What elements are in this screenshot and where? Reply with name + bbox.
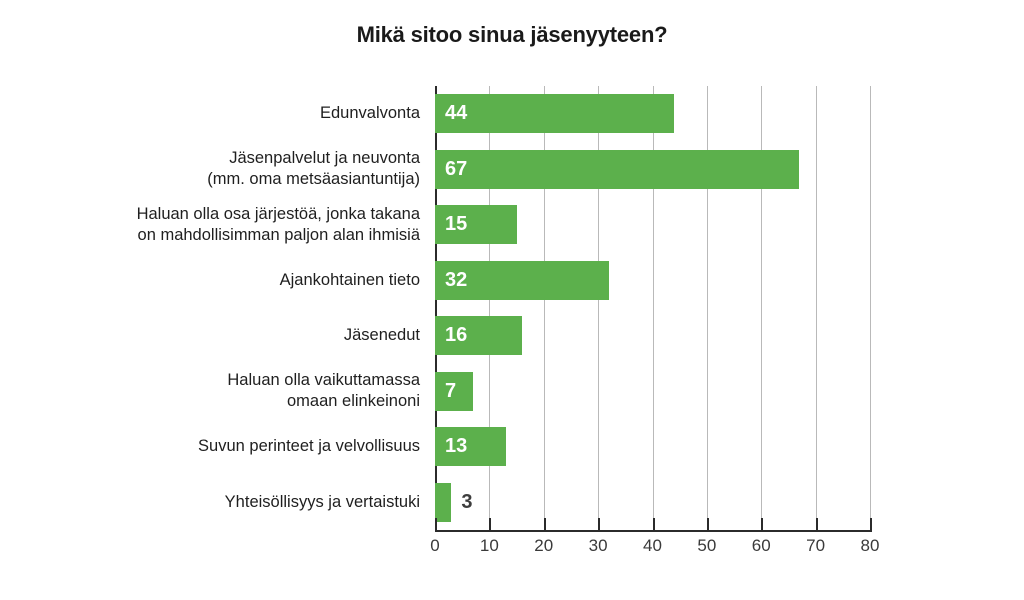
x-tick-label: 70: [796, 536, 836, 556]
category-label-line: omaan elinkeinoni: [80, 391, 420, 412]
category-label-line: on mahdollisimman paljon alan ihmisiä: [80, 225, 420, 246]
x-tick-30: [598, 518, 600, 530]
bar[interactable]: [435, 150, 799, 189]
bar-value-label: 13: [445, 427, 467, 466]
bar-value-label: 16: [445, 316, 467, 355]
x-tick-80: [870, 518, 872, 530]
page-title: Mikä sitoo sinua jäsenyyteen?: [0, 22, 1024, 48]
category-label: Ajankohtainen tieto: [80, 261, 420, 300]
gridline-80: [870, 86, 871, 530]
x-tick-label: 50: [687, 536, 727, 556]
bar-value-label: 67: [445, 150, 467, 189]
bar[interactable]: [435, 94, 674, 133]
bar-value-label: 44: [445, 94, 467, 133]
x-tick-0: [435, 518, 437, 530]
category-label-line: (mm. oma metsäasiantuntija): [80, 169, 420, 190]
x-tick-label: 10: [469, 536, 509, 556]
bar-row[interactable]: 7: [435, 372, 870, 411]
x-tick-20: [544, 518, 546, 530]
category-label: Haluan olla vaikuttamassaomaan elinkeino…: [80, 372, 420, 411]
x-tick-label: 20: [524, 536, 564, 556]
x-axis-line: [435, 530, 872, 532]
bar-row[interactable]: 13: [435, 427, 870, 466]
x-tick-60: [761, 518, 763, 530]
bar-row[interactable]: 3: [435, 483, 870, 522]
bar-value-label: 15: [445, 205, 467, 244]
plot-area: 44671532167133: [435, 86, 870, 530]
x-tick-label: 0: [415, 536, 455, 556]
category-label-line: Haluan olla osa järjestöä, jonka takana: [80, 204, 420, 225]
bar-value-label: 3: [461, 483, 472, 522]
category-label: Haluan olla osa järjestöä, jonka takanao…: [80, 205, 420, 244]
x-tick-label: 40: [633, 536, 673, 556]
category-label: Suvun perinteet ja velvollisuus: [80, 427, 420, 466]
x-tick-label: 80: [850, 536, 890, 556]
x-tick-10: [489, 518, 491, 530]
category-label-line: Edunvalvonta: [80, 103, 420, 124]
x-tick-50: [707, 518, 709, 530]
x-tick-label: 30: [578, 536, 618, 556]
category-label-line: Jäsenedut: [80, 325, 420, 346]
category-label: Jäsenpalvelut ja neuvonta(mm. oma metsäa…: [80, 150, 420, 189]
category-label: Jäsenedut: [80, 316, 420, 355]
bar-value-label: 7: [445, 372, 456, 411]
category-label: Edunvalvonta: [80, 94, 420, 133]
bar-row[interactable]: 16: [435, 316, 870, 355]
bar-row[interactable]: 44: [435, 94, 870, 133]
bar-value-label: 32: [445, 261, 467, 300]
x-tick-70: [816, 518, 818, 530]
category-label-line: Ajankohtainen tieto: [80, 270, 420, 291]
bar-row[interactable]: 67: [435, 150, 870, 189]
bar-row[interactable]: 15: [435, 205, 870, 244]
chart-container: Mikä sitoo sinua jäsenyyteen? Edunvalvon…: [0, 0, 1024, 600]
category-label-line: Haluan olla vaikuttamassa: [80, 370, 420, 391]
category-label-line: Yhteisöllisyys ja vertaistuki: [80, 492, 420, 513]
category-label-line: Suvun perinteet ja velvollisuus: [80, 436, 420, 457]
bar-row[interactable]: 32: [435, 261, 870, 300]
x-tick-40: [653, 518, 655, 530]
x-tick-label: 60: [741, 536, 781, 556]
category-axis-labels: EdunvalvontaJäsenpalvelut ja neuvonta(mm…: [80, 86, 420, 530]
category-label: Yhteisöllisyys ja vertaistuki: [80, 483, 420, 522]
category-label-line: Jäsenpalvelut ja neuvonta: [80, 148, 420, 169]
bar[interactable]: [435, 483, 451, 522]
